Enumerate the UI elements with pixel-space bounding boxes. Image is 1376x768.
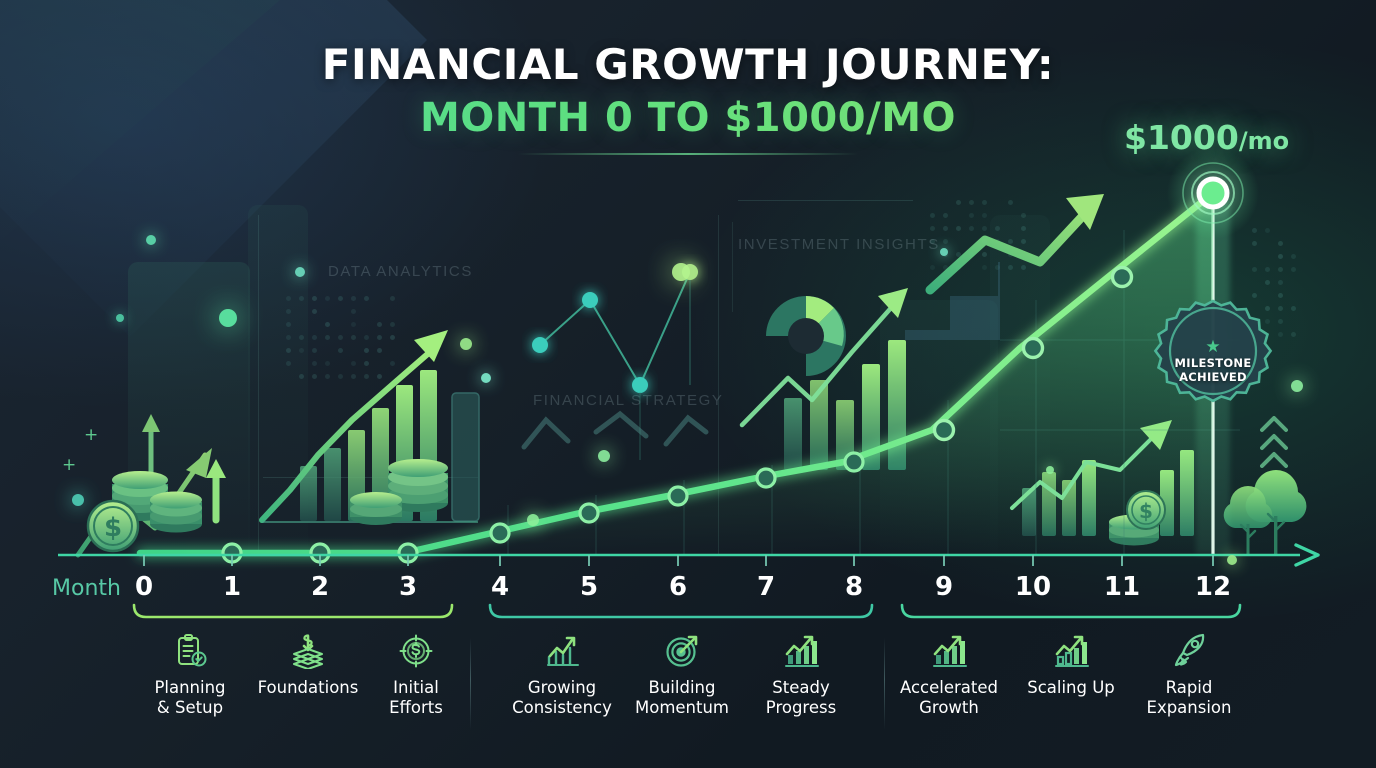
bg-glow-dot — [1227, 555, 1237, 565]
goal-amount-suffix: /mo — [1239, 127, 1289, 155]
target-arrow-icon — [624, 630, 740, 672]
deco-pie-chart — [766, 296, 846, 376]
bar-rise-icon — [1013, 630, 1129, 672]
bg-glow-dot — [1291, 380, 1303, 392]
bg-glow-dot — [116, 314, 124, 322]
milestone-badge: ★ MILESTONE ACHIEVED — [1157, 305, 1269, 417]
infographic-canvas: DATA ANALYTICS FINANCIAL STRATEGY INVEST… — [0, 0, 1376, 768]
axis-month-label: Month — [52, 576, 121, 601]
star-icon: ★ — [1205, 338, 1220, 355]
axis-tick-6: 6 — [669, 572, 687, 602]
axis-tick-1: 1 — [223, 572, 241, 602]
phase-step-building-momentum[interactable]: Building Momentum — [624, 630, 740, 718]
goal-amount-value: $1000 — [1124, 118, 1239, 157]
axis-tick-0: 0 — [135, 572, 153, 602]
axis-tick-8: 8 — [845, 572, 863, 602]
final-milestone-point — [1167, 147, 1259, 239]
phase-step-scaling-up[interactable]: Scaling Up — [1013, 630, 1129, 698]
phase-divider-2 — [884, 638, 885, 730]
bg-glow-dot — [1046, 466, 1054, 474]
phase-step-label: Growing Consistency — [504, 678, 620, 718]
bg-glow-dot — [460, 338, 472, 350]
phase-step-initial-efforts[interactable]: Initial Efforts — [358, 630, 474, 718]
phase-step-rapid-expansion[interactable]: Rapid Expansion — [1131, 630, 1247, 718]
phase-step-foundations[interactable]: Foundations — [250, 630, 366, 698]
axis-tick-4: 4 — [491, 572, 509, 602]
deco-big-arrow-top — [930, 194, 1104, 290]
phase-step-label: Building Momentum — [624, 678, 740, 718]
milestone-badge-line1: MILESTONE — [1175, 357, 1252, 371]
phase-bracket-growth — [490, 605, 872, 617]
phase-label-row: Planning & SetupFoundationsInitial Effor… — [0, 630, 1376, 750]
phase-bracket-foundation — [134, 605, 452, 617]
deco-mountain-shapes — [524, 414, 706, 447]
axis-tick-9: 9 — [935, 572, 953, 602]
growth-chart-icon — [743, 630, 859, 672]
bg-glow-dot — [940, 248, 948, 256]
rocket-icon — [1131, 630, 1247, 672]
dollar-target-icon — [358, 630, 474, 672]
bg-glow-dot — [219, 309, 237, 327]
money-stack-icon — [250, 630, 366, 672]
bg-glow-dot — [72, 494, 84, 506]
phase-step-label: Foundations — [250, 678, 366, 698]
axis-tick-7: 7 — [757, 572, 775, 602]
axis-tick-5: 5 — [580, 572, 598, 602]
phase-bracket-scale — [902, 605, 1240, 617]
page-title-line1: FINANCIAL GROWTH JOURNEY: — [0, 40, 1376, 89]
phase-step-planning-setup[interactable]: Planning & Setup — [132, 630, 248, 718]
bg-glow-dot — [295, 267, 305, 277]
axis-tick-10: 10 — [1015, 572, 1051, 602]
axis-tick-3: 3 — [399, 572, 417, 602]
deco-chevrons-right — [1262, 418, 1286, 466]
phase-step-label: Scaling Up — [1013, 678, 1129, 698]
phase-step-label: Rapid Expansion — [1131, 678, 1247, 718]
axis-tick-12: 12 — [1195, 572, 1231, 602]
phase-step-accelerated-growth[interactable]: Accelerated Growth — [891, 630, 1007, 718]
title-underline — [518, 153, 858, 155]
axis-tick-2: 2 — [311, 572, 329, 602]
phase-step-steady-progress[interactable]: Steady Progress — [743, 630, 859, 718]
phase-step-label: Accelerated Growth — [891, 678, 1007, 718]
phase-step-growing-consistency[interactable]: Growing Consistency — [504, 630, 620, 718]
bg-glow-dot — [598, 450, 610, 462]
goal-amount-label: $1000/mo — [1124, 118, 1289, 157]
bg-glow-dot — [481, 373, 491, 383]
phase-step-label: Initial Efforts — [358, 678, 474, 718]
axis-tick-11: 11 — [1104, 572, 1140, 602]
clipboard-check-icon — [132, 630, 248, 672]
bg-glow-dot — [527, 514, 539, 526]
phase-step-label: Planning & Setup — [132, 678, 248, 718]
bg-glow-dot — [672, 263, 690, 281]
deco-plus-2: + — [62, 455, 76, 475]
deco-plus-1: + — [84, 425, 98, 445]
growth-chart-icon — [891, 630, 1007, 672]
bar-chart-arrow-icon — [504, 630, 620, 672]
svg-text:$: $ — [104, 513, 122, 543]
trees-icon — [1224, 470, 1307, 556]
phase-brackets — [134, 605, 1240, 617]
phase-step-label: Steady Progress — [743, 678, 859, 718]
x-axis-ticks — [144, 555, 1213, 566]
bg-glow-dot — [146, 235, 156, 245]
milestone-badge-line2: ACHIEVED — [1179, 371, 1247, 385]
